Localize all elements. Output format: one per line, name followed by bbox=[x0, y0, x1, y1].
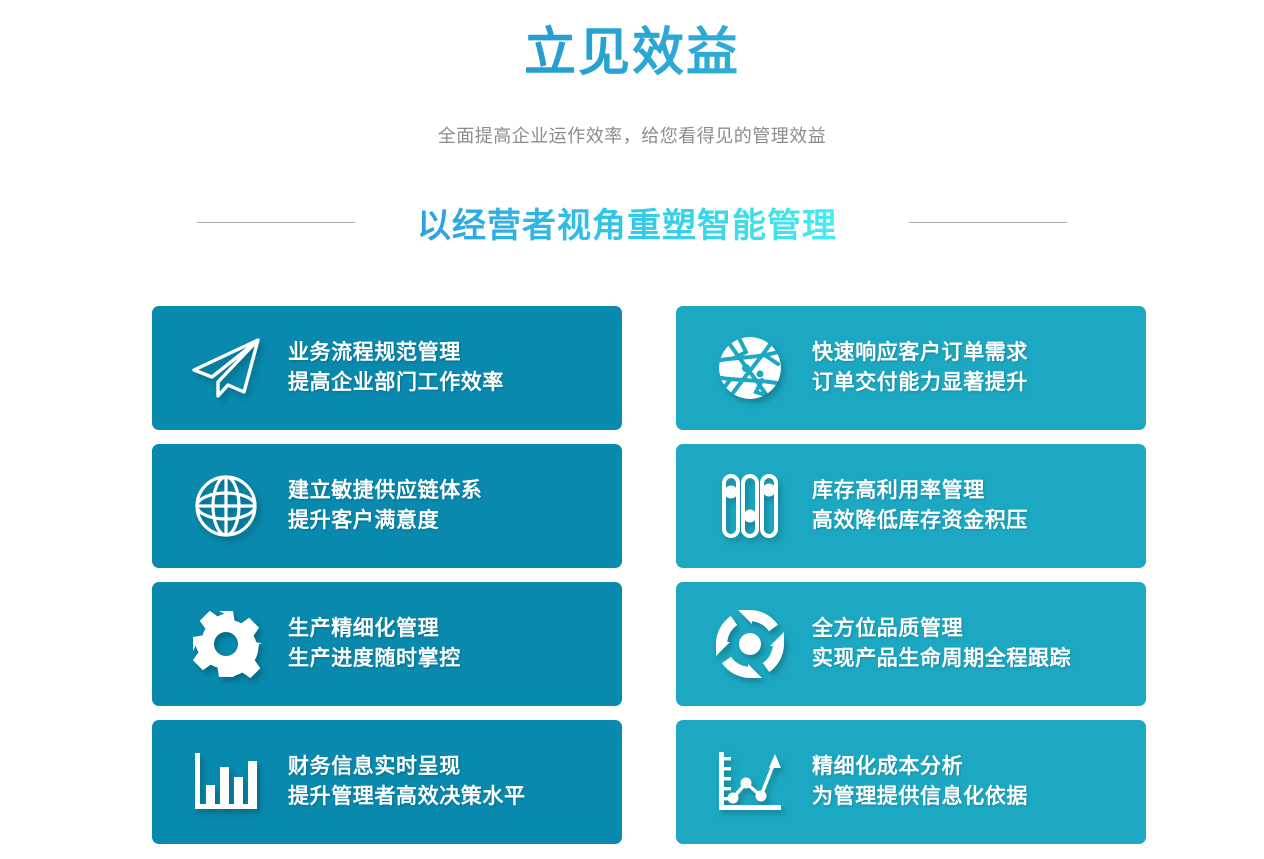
benefit-card-text: 建立敏捷供应链体系 提升客户满意度 bbox=[288, 476, 622, 536]
divider-line-left bbox=[197, 222, 355, 223]
section-title: 以经营者视角重塑智能管理 bbox=[417, 198, 837, 247]
benefit-line-2: 提升客户满意度 bbox=[288, 506, 622, 536]
benefit-card-text: 财务信息实时呈现 提升管理者高效决策水平 bbox=[288, 752, 622, 812]
benefit-card[interactable]: 库存高利用率管理 高效降低库存资金积压 bbox=[676, 444, 1146, 568]
benefit-card[interactable]: 生产精细化管理 生产进度随时掌控 bbox=[152, 582, 622, 706]
line-chart-icon bbox=[702, 743, 798, 821]
bar-chart-icon bbox=[178, 743, 274, 821]
benefit-line-2: 提升管理者高效决策水平 bbox=[288, 782, 622, 812]
page-title: 立见效益 bbox=[0, 24, 1264, 84]
benefit-card[interactable]: 建立敏捷供应链体系 提升客户满意度 bbox=[152, 444, 622, 568]
benefit-line-1: 业务流程规范管理 bbox=[288, 338, 622, 368]
benefit-line-1: 精细化成本分析 bbox=[812, 752, 1146, 782]
benefit-card-text: 业务流程规范管理 提高企业部门工作效率 bbox=[288, 338, 622, 398]
benefit-card-text: 全方位品质管理 实现产品生命周期全程跟踪 bbox=[812, 614, 1146, 674]
wireframe-globe-icon bbox=[178, 467, 274, 545]
benefit-card[interactable]: 业务流程规范管理 提高企业部门工作效率 bbox=[152, 306, 622, 430]
benefit-card-text: 快速响应客户订单需求 订单交付能力显著提升 bbox=[812, 338, 1146, 398]
sliders-icon bbox=[702, 467, 798, 545]
gear-icon bbox=[178, 605, 274, 683]
benefit-card[interactable]: 精细化成本分析 为管理提供信息化依据 bbox=[676, 720, 1146, 844]
benefit-card[interactable]: 全方位品质管理 实现产品生命周期全程跟踪 bbox=[676, 582, 1146, 706]
divider-line-right bbox=[909, 222, 1067, 223]
section-heading: 以经营者视角重塑智能管理 bbox=[0, 198, 1264, 247]
benefit-line-2: 提高企业部门工作效率 bbox=[288, 368, 622, 398]
benefit-line-2: 订单交付能力显著提升 bbox=[812, 368, 1146, 398]
benefit-card-text: 精细化成本分析 为管理提供信息化依据 bbox=[812, 752, 1146, 812]
benefit-line-1: 库存高利用率管理 bbox=[812, 476, 1146, 506]
network-globe-icon bbox=[702, 329, 798, 407]
page-subtitle: 全面提高企业运作效率，给您看得见的管理效益 bbox=[0, 122, 1264, 148]
benefit-line-1: 建立敏捷供应链体系 bbox=[288, 476, 622, 506]
paper-plane-icon bbox=[178, 329, 274, 407]
benefit-card[interactable]: 财务信息实时呈现 提升管理者高效决策水平 bbox=[152, 720, 622, 844]
cycle-arrows-icon bbox=[702, 605, 798, 683]
benefit-line-2: 高效降低库存资金积压 bbox=[812, 506, 1146, 536]
benefit-line-1: 全方位品质管理 bbox=[812, 614, 1146, 644]
benefit-line-2: 实现产品生命周期全程跟踪 bbox=[812, 644, 1146, 674]
benefit-line-1: 财务信息实时呈现 bbox=[288, 752, 622, 782]
benefit-card-text: 生产精细化管理 生产进度随时掌控 bbox=[288, 614, 622, 674]
benefit-line-1: 生产精细化管理 bbox=[288, 614, 622, 644]
benefit-line-2: 为管理提供信息化依据 bbox=[812, 782, 1146, 812]
benefit-card[interactable]: 快速响应客户订单需求 订单交付能力显著提升 bbox=[676, 306, 1146, 430]
benefit-card-grid: 业务流程规范管理 提高企业部门工作效率 bbox=[152, 306, 1146, 844]
benefit-line-1: 快速响应客户订单需求 bbox=[812, 338, 1146, 368]
benefit-card-text: 库存高利用率管理 高效降低库存资金积压 bbox=[812, 476, 1146, 536]
benefit-line-2: 生产进度随时掌控 bbox=[288, 644, 622, 674]
benefits-page: 立见效益 全面提高企业运作效率，给您看得见的管理效益 以经营者视角重塑智能管理 … bbox=[0, 0, 1264, 859]
